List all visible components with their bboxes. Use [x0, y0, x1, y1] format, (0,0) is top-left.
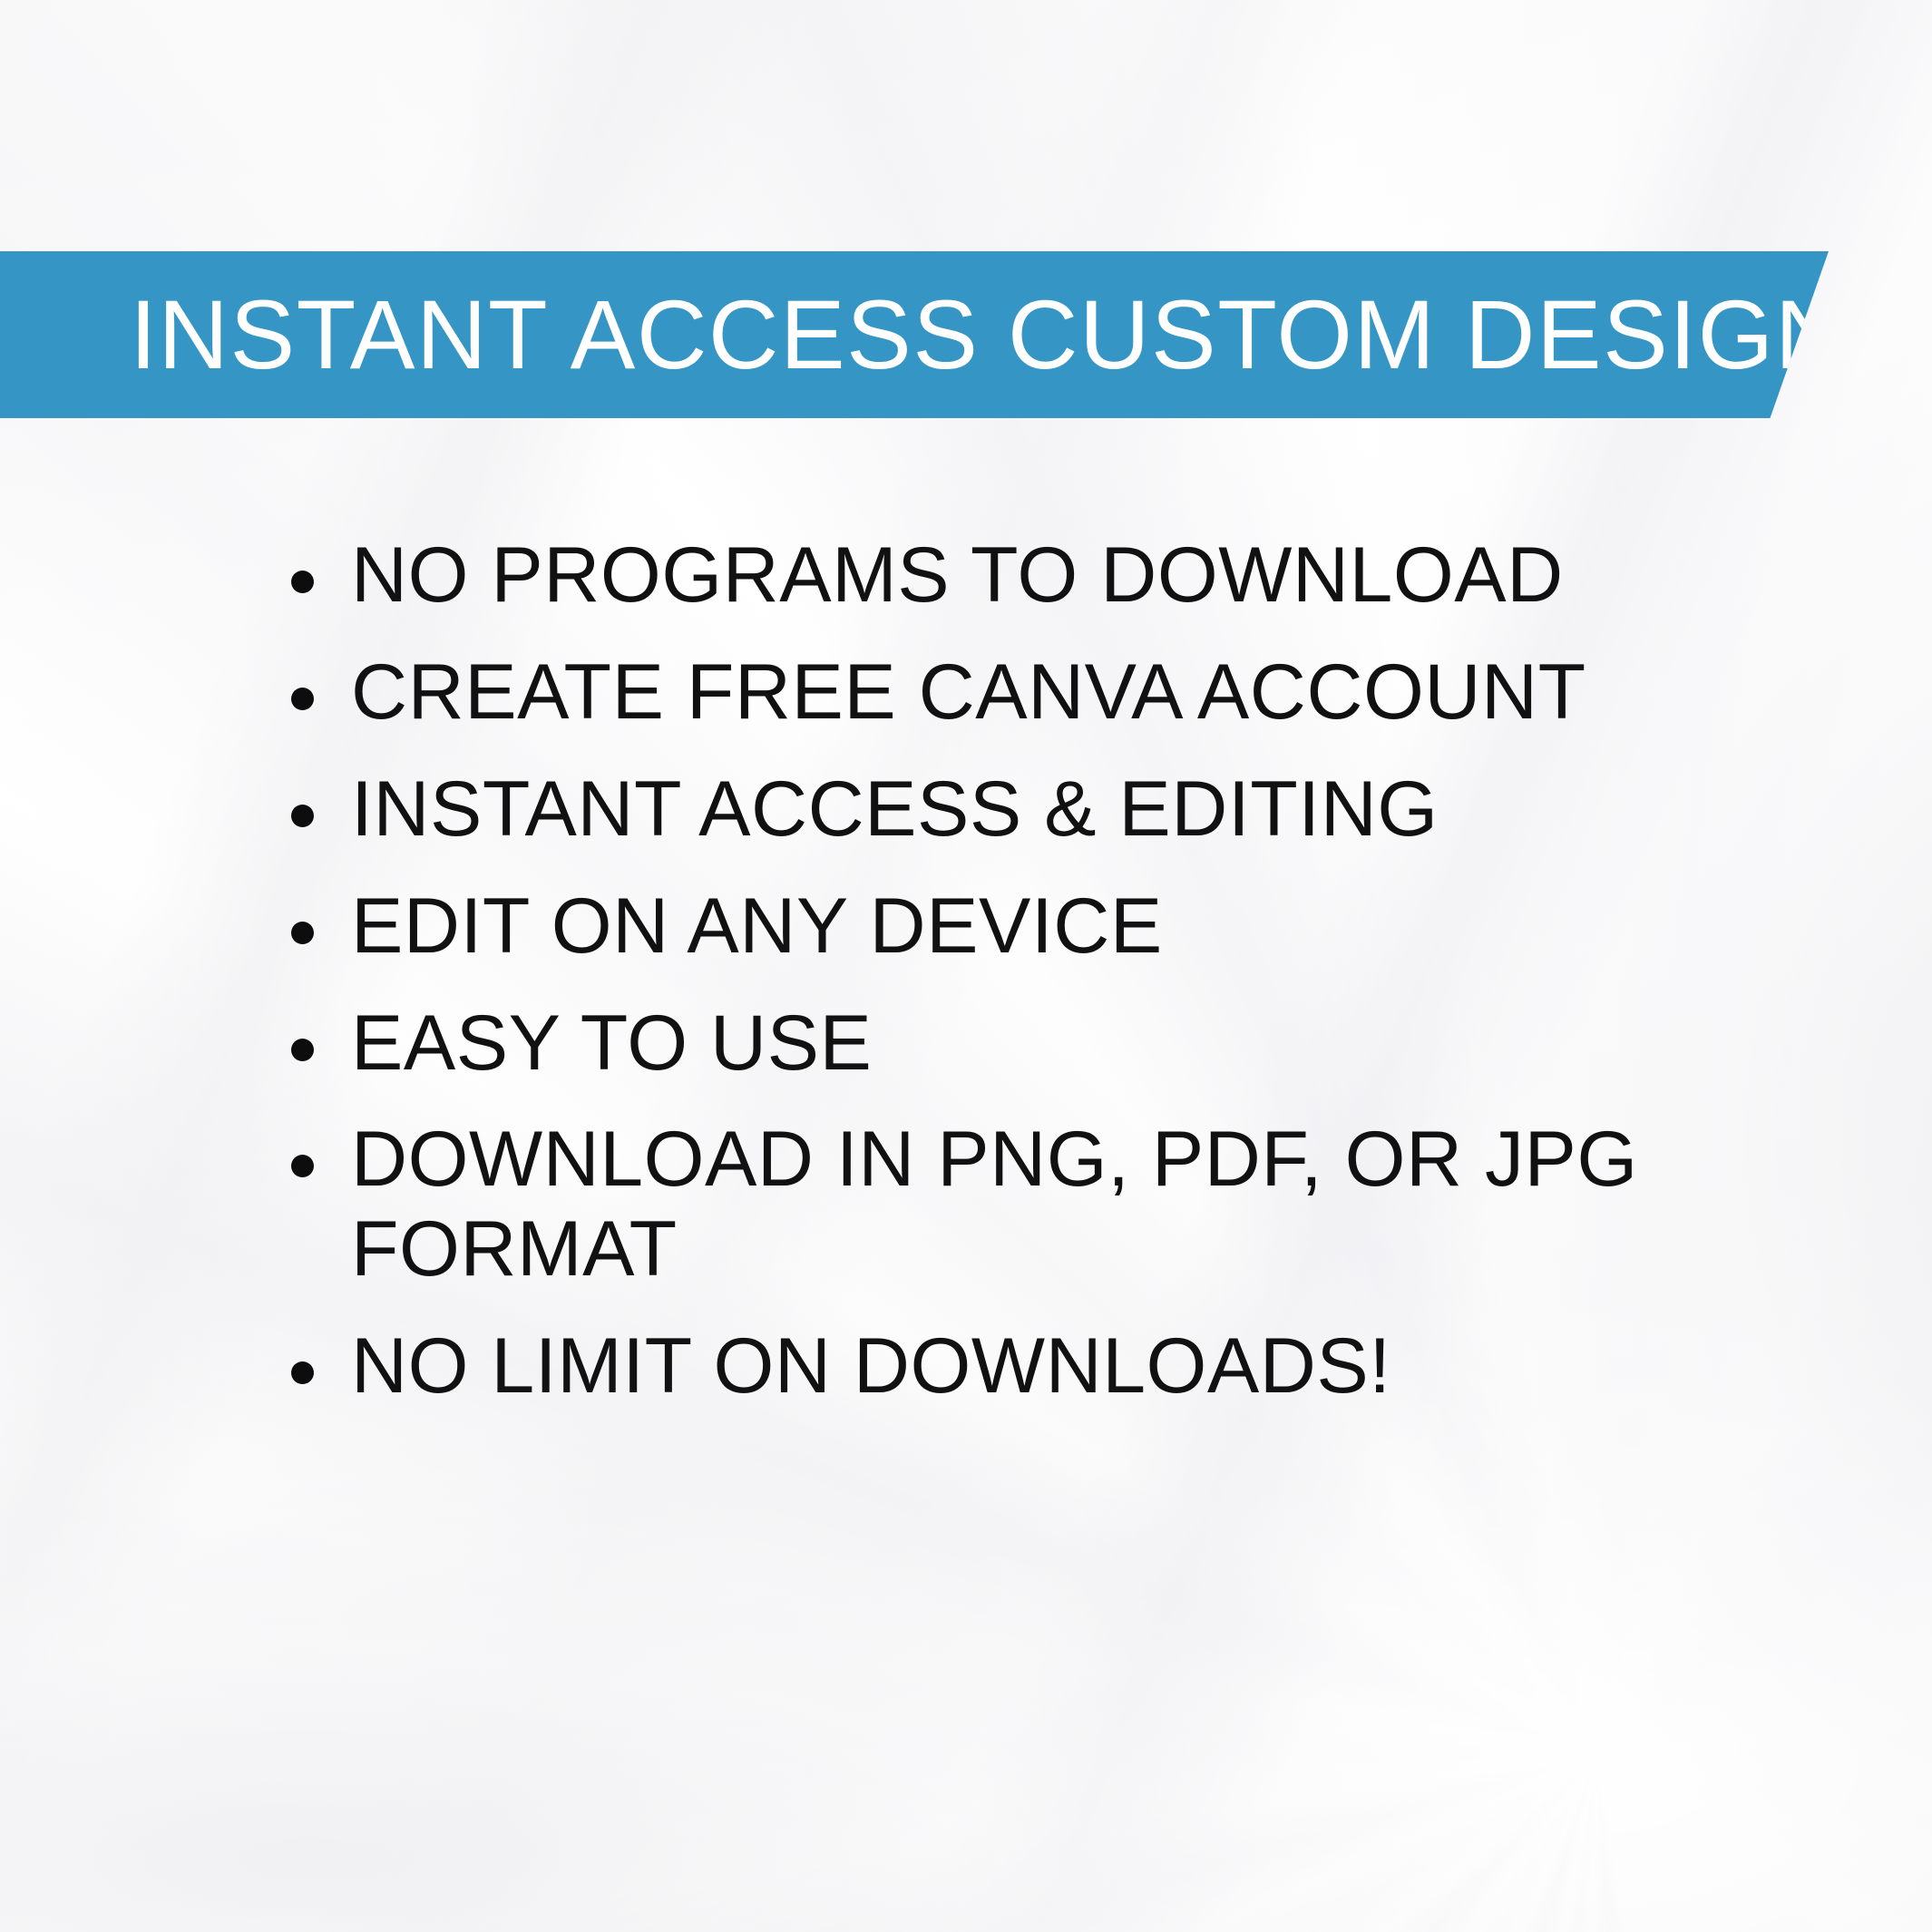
list-item-label: EASY TO USE: [351, 999, 1828, 1088]
list-item: INSTANT ACCESS & EDITING: [286, 765, 1828, 854]
bullet-dot-icon: [291, 688, 314, 710]
list-item-label: NO PROGRAMS TO DOWNLOAD: [351, 531, 1828, 620]
list-item: EDIT ON ANY DEVICE: [286, 882, 1828, 971]
banner-title: INSTANT ACCESS CUSTOM DESIGNS: [130, 286, 1913, 384]
list-item-label: DOWNLOAD IN PNG, PDF, OR JPG FORMAT: [351, 1115, 1828, 1294]
list-item: DOWNLOAD IN PNG, PDF, OR JPG FORMAT: [286, 1115, 1828, 1294]
bullet-dot-icon: [291, 805, 314, 827]
bullet-dot-icon: [291, 1361, 314, 1384]
list-item: NO PROGRAMS TO DOWNLOAD: [286, 531, 1828, 620]
list-item-label: INSTANT ACCESS & EDITING: [351, 765, 1828, 854]
list-item: CREATE FREE CANVA ACCOUNT: [286, 648, 1828, 737]
bullet-dot-icon: [291, 571, 314, 593]
list-item-label: NO LIMIT ON DOWNLOADS!: [351, 1322, 1828, 1411]
list-item-label: EDIT ON ANY DEVICE: [351, 882, 1828, 971]
bullet-dot-icon: [291, 1155, 314, 1177]
list-item: NO LIMIT ON DOWNLOADS!: [286, 1322, 1828, 1411]
bullet-dot-icon: [291, 1039, 314, 1061]
list-item: EASY TO USE: [286, 999, 1828, 1088]
promo-graphic-canvas: INSTANT ACCESS CUSTOM DESIGNS NO PROGRAM…: [0, 0, 1932, 1932]
bullet-dot-icon: [291, 922, 314, 944]
headline-banner: INSTANT ACCESS CUSTOM DESIGNS: [0, 251, 1829, 418]
list-item-label: CREATE FREE CANVA ACCOUNT: [351, 648, 1828, 737]
feature-list: NO PROGRAMS TO DOWNLOAD CREATE FREE CANV…: [286, 531, 1828, 1411]
